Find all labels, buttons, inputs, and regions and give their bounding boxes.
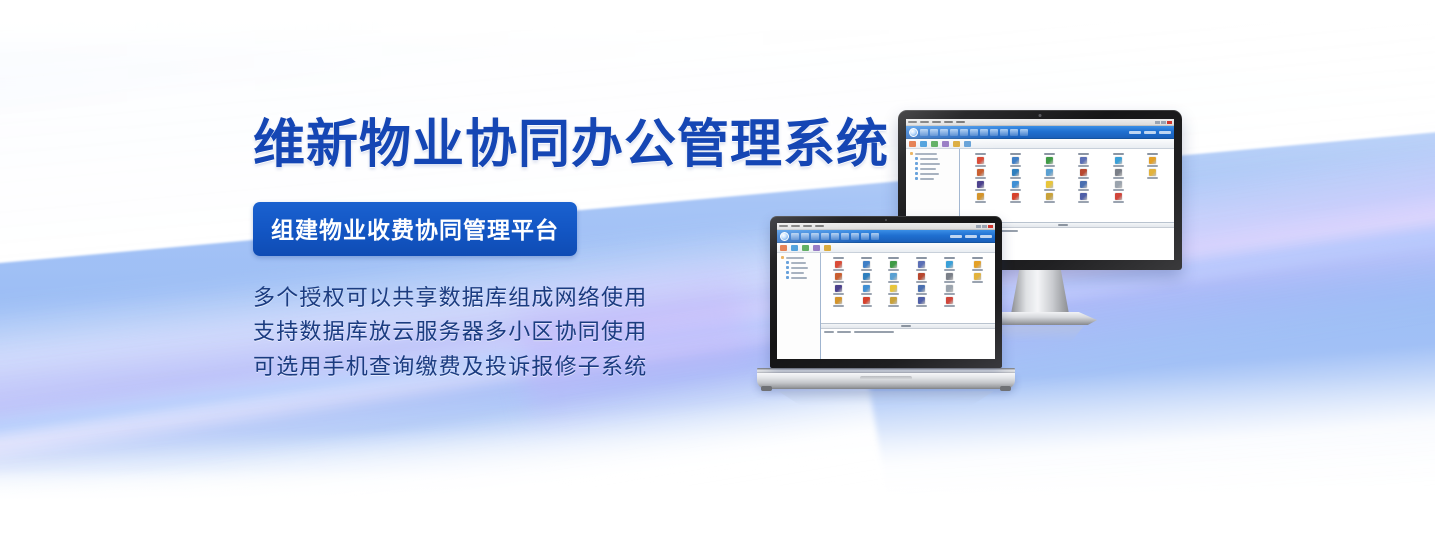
module-icon-label <box>944 293 955 295</box>
feature-item: 支持数据库放云服务器多小区协同使用 <box>253 316 893 350</box>
app-menubar[interactable] <box>906 119 1174 126</box>
close-icon[interactable] <box>988 225 993 228</box>
module-icon-label <box>944 281 955 283</box>
module-icon[interactable] <box>1012 169 1019 176</box>
module-icon-cell[interactable] <box>936 297 964 307</box>
monitor-stand-neck <box>1011 270 1069 314</box>
module-icon-cell[interactable] <box>1136 169 1170 179</box>
header-nav-button[interactable] <box>1010 129 1018 136</box>
header-nav-button[interactable] <box>920 129 928 136</box>
module-icon[interactable] <box>977 181 984 188</box>
module-icon-cell[interactable] <box>908 261 936 271</box>
module-icon-label <box>1113 201 1124 203</box>
module-icon[interactable] <box>977 193 984 200</box>
toolbar-icon[interactable] <box>942 141 949 147</box>
tree-node-label <box>920 173 939 175</box>
module-icon-cell[interactable] <box>1101 169 1135 179</box>
tree-node-label <box>920 158 938 160</box>
module-icon-label <box>1078 165 1089 167</box>
app-toolbar[interactable] <box>906 139 1174 149</box>
module-icon[interactable] <box>977 169 984 176</box>
module-icon-cell[interactable] <box>1101 157 1135 167</box>
badge-row: 组建物业收费协同管理平台 <box>253 202 893 256</box>
feature-item: 多个授权可以共享数据库组成网络使用 <box>253 282 893 316</box>
tree-node[interactable] <box>908 152 957 155</box>
module-icon[interactable] <box>918 273 925 280</box>
module-icon-label <box>975 189 986 191</box>
module-column-header <box>998 153 1032 155</box>
minimize-icon[interactable] <box>976 225 981 228</box>
module-icon[interactable] <box>1012 181 1019 188</box>
module-icon-label <box>1113 177 1124 179</box>
module-column-label <box>975 153 986 155</box>
module-icon[interactable] <box>918 285 925 292</box>
module-icon[interactable] <box>1080 169 1087 176</box>
module-icon-label <box>1010 189 1021 191</box>
module-icon-label <box>975 201 986 203</box>
module-icon[interactable] <box>918 297 925 304</box>
toolbar-icon[interactable] <box>964 141 971 147</box>
module-icon-label <box>972 269 983 271</box>
module-icon-cell[interactable] <box>998 157 1032 167</box>
module-icon[interactable] <box>1080 157 1087 164</box>
module-icon[interactable] <box>1046 157 1053 164</box>
module-icon-cell <box>963 285 991 295</box>
module-icon[interactable] <box>946 285 953 292</box>
module-icon[interactable] <box>1080 181 1087 188</box>
module-icon-cell[interactable] <box>963 273 991 283</box>
module-icon-cell[interactable] <box>1101 181 1135 191</box>
module-icon-cell[interactable] <box>936 261 964 271</box>
module-column-header <box>1136 153 1170 155</box>
tree-node-label <box>915 153 937 155</box>
tree-node[interactable] <box>908 177 957 180</box>
module-icon-cell[interactable] <box>1067 169 1101 179</box>
module-icon-label <box>1044 201 1055 203</box>
feature-item: 可选用手机查询缴费及投诉报修子系统 <box>253 351 893 385</box>
module-column-label <box>1113 153 1124 155</box>
module-icon-cell[interactable] <box>1067 157 1101 167</box>
module-icon-label <box>1044 177 1055 179</box>
header-link[interactable] <box>1144 131 1156 134</box>
module-icon-cell[interactable] <box>1032 181 1066 191</box>
window-controls[interactable] <box>1155 121 1172 124</box>
module-icon-cell[interactable] <box>1067 181 1101 191</box>
minimize-icon[interactable] <box>1155 121 1160 124</box>
webcam-icon <box>1039 114 1042 117</box>
folder-icon <box>910 152 913 155</box>
close-icon[interactable] <box>1167 121 1172 124</box>
app-header-bar <box>906 126 1174 139</box>
module-icon[interactable] <box>1115 181 1122 188</box>
header-nav-button[interactable] <box>940 129 948 136</box>
module-icon-label <box>1113 165 1124 167</box>
menu-item[interactable] <box>944 121 953 123</box>
module-icon[interactable] <box>946 261 953 268</box>
toolbar-icon[interactable] <box>931 141 938 147</box>
module-icon[interactable] <box>1080 193 1087 200</box>
header-link[interactable] <box>1129 131 1141 134</box>
module-icon[interactable] <box>946 297 953 304</box>
toolbar-icon[interactable] <box>920 141 927 147</box>
module-icon-cell[interactable] <box>1032 193 1066 203</box>
module-icon-label <box>1113 189 1124 191</box>
module-column-label <box>1078 153 1089 155</box>
module-icon-cell[interactable] <box>998 181 1032 191</box>
module-icon-cell[interactable] <box>964 181 998 191</box>
maximize-icon[interactable] <box>1161 121 1166 124</box>
page-title: 维新物业协同办公管理系统 <box>253 118 893 173</box>
module-icon[interactable] <box>977 157 984 164</box>
header-link[interactable] <box>1159 131 1171 134</box>
list-header-title <box>1058 224 1068 226</box>
module-icon-cell[interactable] <box>963 261 991 271</box>
module-icon-cell[interactable] <box>1032 169 1066 179</box>
toolbar-icon[interactable] <box>953 141 960 147</box>
module-icon-cell[interactable] <box>964 157 998 167</box>
module-icon-cell[interactable] <box>964 193 998 203</box>
header-link[interactable] <box>965 235 977 238</box>
module-column-label <box>944 257 955 259</box>
module-icon-cell[interactable] <box>1101 193 1135 203</box>
header-right-links[interactable] <box>1129 131 1171 134</box>
module-column-header <box>963 257 991 259</box>
module-icon[interactable] <box>1149 157 1156 164</box>
module-column-header <box>1032 153 1066 155</box>
laptop-reflection <box>766 391 1006 405</box>
module-icon-cell[interactable] <box>1032 157 1066 167</box>
module-icon-cell[interactable] <box>908 273 936 283</box>
module-icon-label <box>1078 189 1089 191</box>
header-nav-button[interactable] <box>960 129 968 136</box>
module-icon-label <box>1044 165 1055 167</box>
tagline-badge: 组建物业收费协同管理平台 <box>253 202 577 256</box>
module-icon-cell <box>1136 181 1170 191</box>
list-header-title <box>901 325 911 327</box>
module-column-header <box>1101 153 1135 155</box>
module-icon[interactable] <box>946 273 953 280</box>
module-icon[interactable] <box>1046 181 1053 188</box>
banner-copy: 维新物业协同办公管理系统 组建物业收费协同管理平台 多个授权可以共享数据库组成网… <box>253 118 893 385</box>
module-icon[interactable] <box>1012 157 1019 164</box>
module-icon-cell[interactable] <box>936 285 964 295</box>
module-icon[interactable] <box>1012 193 1019 200</box>
module-column-header <box>936 257 964 259</box>
module-column-label <box>1147 153 1158 155</box>
node-icon <box>915 167 918 170</box>
tree-node-label <box>920 178 934 180</box>
module-icon-label <box>944 305 955 307</box>
header-nav-button[interactable] <box>930 129 938 136</box>
module-icon-label <box>1010 201 1021 203</box>
module-icon-cell[interactable] <box>1067 193 1101 203</box>
module-column-label <box>1044 153 1055 155</box>
module-icon-label <box>1010 165 1021 167</box>
module-column-label <box>1010 153 1021 155</box>
module-icon-label <box>975 165 986 167</box>
app-logo-icon <box>909 128 918 137</box>
tree-node-label <box>920 163 940 165</box>
module-column-label <box>916 257 927 259</box>
node-icon <box>915 177 918 180</box>
module-icon-label <box>1147 177 1158 179</box>
module-icon-grid[interactable] <box>960 149 1174 222</box>
module-icon-label <box>916 305 927 307</box>
module-icon[interactable] <box>1115 193 1122 200</box>
module-column-header <box>1067 153 1101 155</box>
feature-list: 多个授权可以共享数据库组成网络使用 支持数据库放云服务器多小区协同使用 可选用手… <box>253 282 893 385</box>
header-right-links[interactable] <box>950 235 992 238</box>
header-nav-button[interactable] <box>1020 129 1028 136</box>
module-icon-label <box>975 177 986 179</box>
promo-banner: 维新物业协同办公管理系统 组建物业收费协同管理平台 多个授权可以共享数据库组成网… <box>0 0 1435 538</box>
module-icon-cell[interactable] <box>908 285 936 295</box>
header-nav-button[interactable] <box>1000 129 1008 136</box>
module-icon-label <box>944 269 955 271</box>
module-icon[interactable] <box>974 273 981 280</box>
node-icon <box>915 172 918 175</box>
header-link[interactable] <box>980 235 992 238</box>
laptop-foot-right <box>1000 386 1011 391</box>
module-icon-cell[interactable] <box>908 297 936 307</box>
node-icon <box>915 157 918 160</box>
menu-item[interactable] <box>920 121 929 123</box>
toolbar-icon[interactable] <box>909 141 916 147</box>
module-column-header <box>964 153 998 155</box>
tree-node[interactable] <box>908 157 957 160</box>
window-controls[interactable] <box>976 225 993 228</box>
module-icon-label <box>1044 189 1055 191</box>
laptop-foot-left <box>761 386 772 391</box>
tree-node[interactable] <box>908 167 957 170</box>
maximize-icon[interactable] <box>982 225 987 228</box>
module-icon[interactable] <box>974 261 981 268</box>
module-icon-label <box>972 281 983 283</box>
header-link[interactable] <box>950 235 962 238</box>
tree-node-label <box>920 168 936 170</box>
module-icon-cell[interactable] <box>1136 157 1170 167</box>
module-icon[interactable] <box>918 261 925 268</box>
module-icon-cell[interactable] <box>964 169 998 179</box>
module-icon[interactable] <box>1046 169 1053 176</box>
module-icon[interactable] <box>1046 193 1053 200</box>
module-icon[interactable] <box>1149 169 1156 176</box>
header-nav-button[interactable] <box>970 129 978 136</box>
module-icon-label <box>1147 165 1158 167</box>
node-icon <box>915 162 918 165</box>
module-icon-cell[interactable] <box>936 273 964 283</box>
module-column-label <box>972 257 983 259</box>
module-icon-label <box>1078 177 1089 179</box>
module-icon[interactable] <box>1115 157 1122 164</box>
header-nav-button[interactable] <box>980 129 988 136</box>
module-icon-cell[interactable] <box>998 169 1032 179</box>
module-icon-label <box>916 293 927 295</box>
module-icon[interactable] <box>1115 169 1122 176</box>
header-nav-button[interactable] <box>990 129 998 136</box>
module-icon-cell <box>1136 193 1170 203</box>
menu-item[interactable] <box>956 121 965 123</box>
module-icon-label <box>1078 201 1089 203</box>
tree-node[interactable] <box>908 172 957 175</box>
module-column-header <box>908 257 936 259</box>
header-nav-button[interactable] <box>950 129 958 136</box>
tree-node[interactable] <box>908 162 957 165</box>
module-icon-label <box>916 269 927 271</box>
menu-item[interactable] <box>908 121 917 123</box>
module-icon-cell[interactable] <box>998 193 1032 203</box>
module-icon-cell <box>963 297 991 307</box>
module-icon-label <box>916 281 927 283</box>
menu-item[interactable] <box>932 121 941 123</box>
module-icon-label <box>1010 177 1021 179</box>
